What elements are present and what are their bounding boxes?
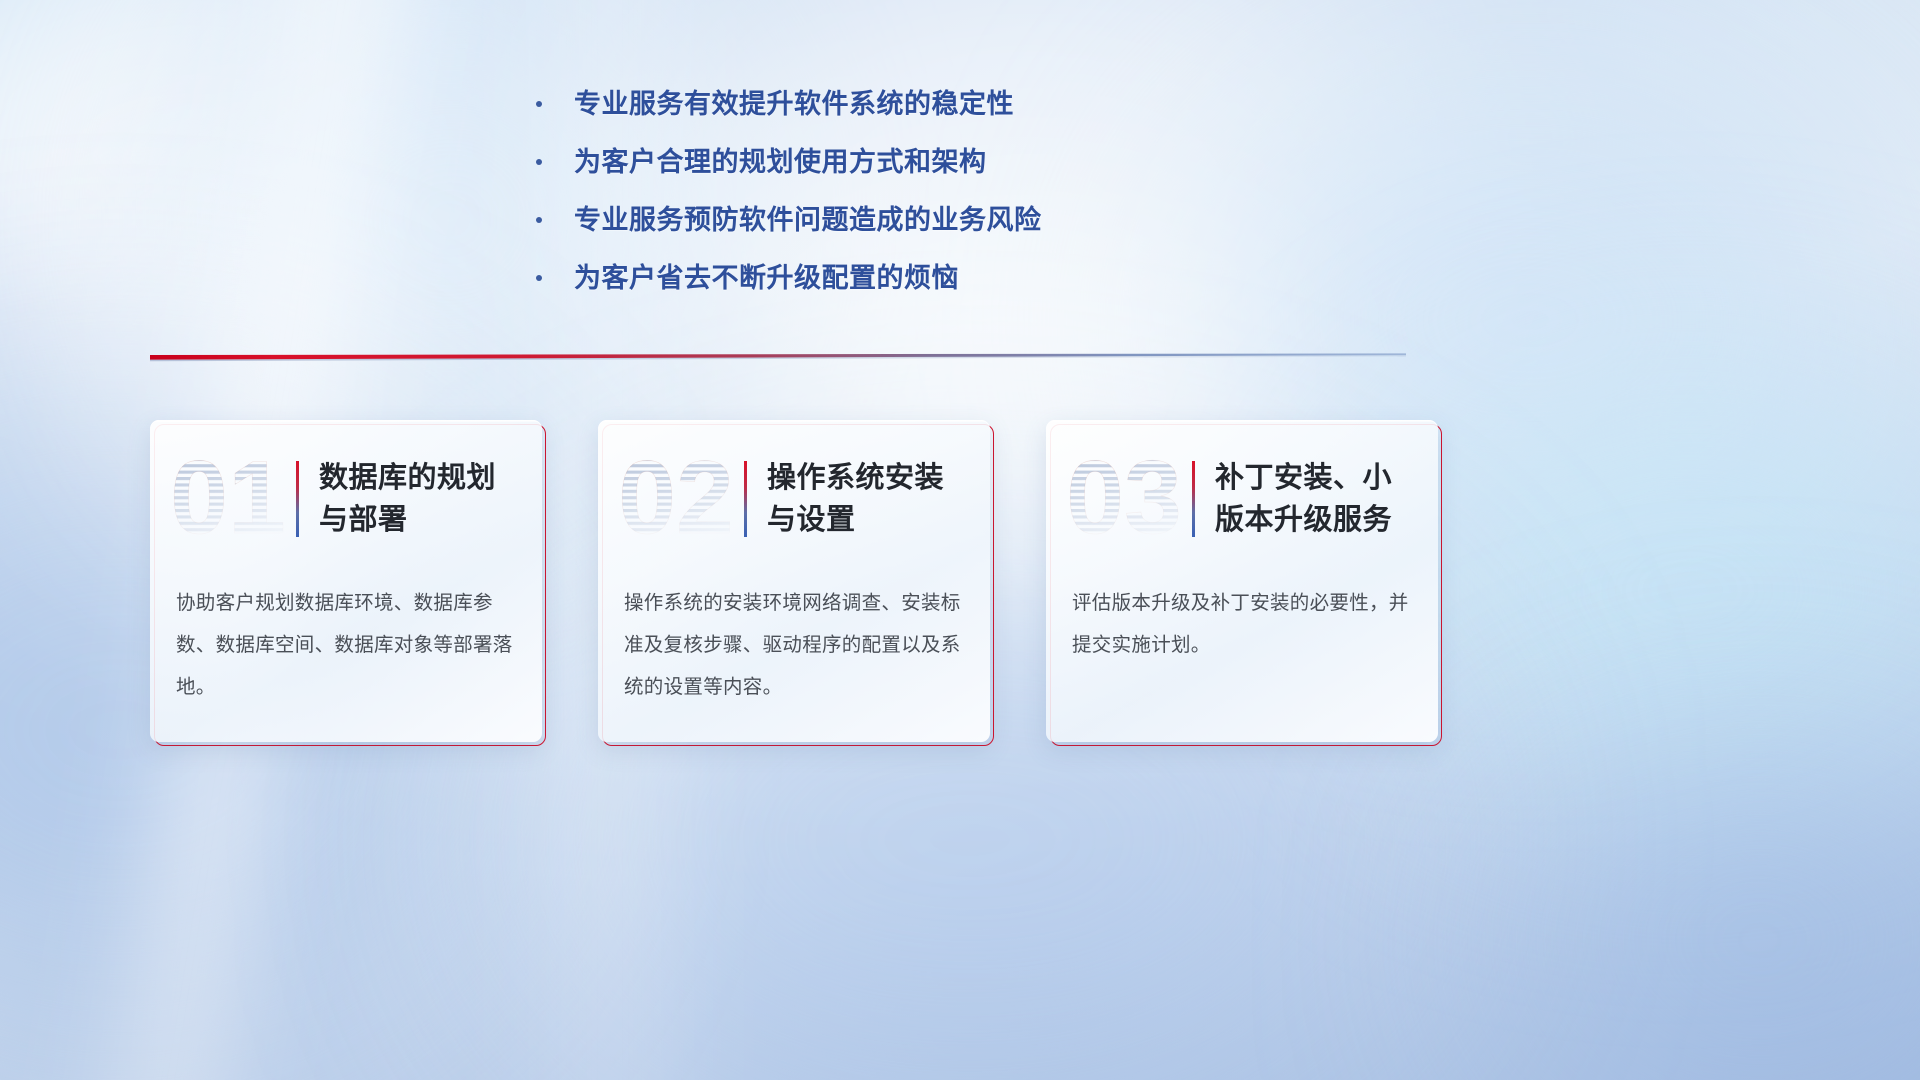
card-row: 01 01 数据库的规划 与部署 协助客户规划数据库环境、数据库参数、数据库空间… [150, 420, 1460, 746]
bullet-list: 专业服务有效提升软件系统的稳定性 为客户合理的规划使用方式和架构 专业服务预防软… [536, 86, 1436, 318]
card-divider-bar [1192, 461, 1195, 537]
card-surface: 01 01 数据库的规划 与部署 协助客户规划数据库环境、数据库参数、数据库空间… [150, 420, 542, 742]
card-header: 02 02 操作系统安装 与设置 [598, 444, 990, 554]
card-title-line2: 版本升级服务 [1215, 499, 1392, 541]
card-number-watermark: 01 01 [162, 445, 294, 553]
card-body-text: 操作系统的安装环境网络调查、安装标准及复核步骤、驱动程序的配置以及系统的设置等内… [624, 582, 964, 708]
card-title-line2: 与部署 [319, 499, 496, 541]
svg-text:02: 02 [618, 445, 734, 553]
card-title-line1: 补丁安装、小 [1215, 457, 1392, 499]
svg-text:03: 03 [1066, 445, 1182, 553]
card-header: 03 03 补丁安装、小 版本升级服务 [1046, 444, 1438, 554]
card-surface: 03 03 补丁安装、小 版本升级服务 评估版本升级及补丁安装的必要性，并提交实… [1046, 420, 1438, 742]
list-item: 专业服务预防软件问题造成的业务风险 [536, 202, 1436, 238]
card-header: 01 01 数据库的规划 与部署 [150, 444, 542, 554]
card-title-line2: 与设置 [767, 499, 944, 541]
card-title-line1: 操作系统安装 [767, 457, 944, 499]
bullet-dot-icon [536, 101, 542, 107]
section-divider [150, 348, 1406, 364]
list-item: 为客户合理的规划使用方式和架构 [536, 144, 1436, 180]
list-item: 为客户省去不断升级配置的烦恼 [536, 260, 1436, 296]
bullet-dot-icon [536, 275, 542, 281]
card-number-watermark: 03 03 [1058, 445, 1190, 553]
card-body-text: 评估版本升级及补丁安装的必要性，并提交实施计划。 [1072, 582, 1412, 666]
svg-text:01: 01 [170, 445, 286, 553]
list-item: 专业服务有效提升软件系统的稳定性 [536, 86, 1436, 122]
bullet-text: 专业服务有效提升软件系统的稳定性 [574, 86, 1014, 122]
bullet-text: 为客户合理的规划使用方式和架构 [574, 144, 987, 180]
card-divider-bar [744, 461, 747, 537]
bullet-text: 专业服务预防软件问题造成的业务风险 [574, 202, 1042, 238]
service-card[interactable]: 03 03 补丁安装、小 版本升级服务 评估版本升级及补丁安装的必要性，并提交实… [1046, 420, 1442, 746]
card-number-watermark: 02 02 [610, 445, 742, 553]
bullet-text: 为客户省去不断升级配置的烦恼 [574, 260, 959, 296]
bullet-dot-icon [536, 159, 542, 165]
card-body-text: 协助客户规划数据库环境、数据库参数、数据库空间、数据库对象等部署落地。 [176, 582, 516, 708]
card-divider-bar [296, 461, 299, 537]
card-title: 操作系统安装 与设置 [767, 457, 944, 541]
card-title: 补丁安装、小 版本升级服务 [1215, 457, 1392, 541]
card-title-line1: 数据库的规划 [319, 457, 496, 499]
card-title: 数据库的规划 与部署 [319, 457, 496, 541]
bullet-dot-icon [536, 217, 542, 223]
card-surface: 02 02 操作系统安装 与设置 操作系统的安装环境网络调查、安装标准及复核步骤… [598, 420, 990, 742]
service-card[interactable]: 02 02 操作系统安装 与设置 操作系统的安装环境网络调查、安装标准及复核步骤… [598, 420, 994, 746]
service-card[interactable]: 01 01 数据库的规划 与部署 协助客户规划数据库环境、数据库参数、数据库空间… [150, 420, 546, 746]
